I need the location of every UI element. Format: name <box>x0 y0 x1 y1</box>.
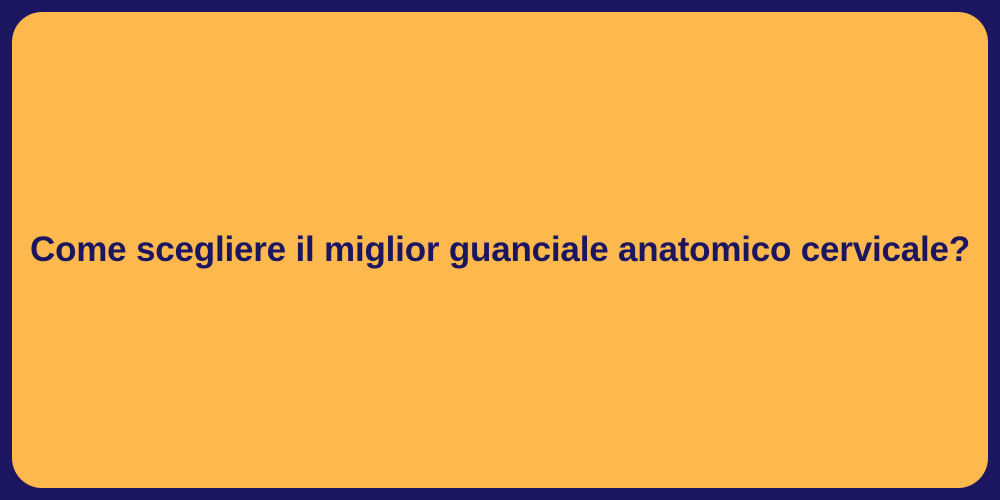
banner-frame: Come scegliere il miglior guanciale anat… <box>0 0 1000 500</box>
banner-card: Come scegliere il miglior guanciale anat… <box>12 12 988 488</box>
banner-heading: Come scegliere il miglior guanciale anat… <box>30 228 970 272</box>
